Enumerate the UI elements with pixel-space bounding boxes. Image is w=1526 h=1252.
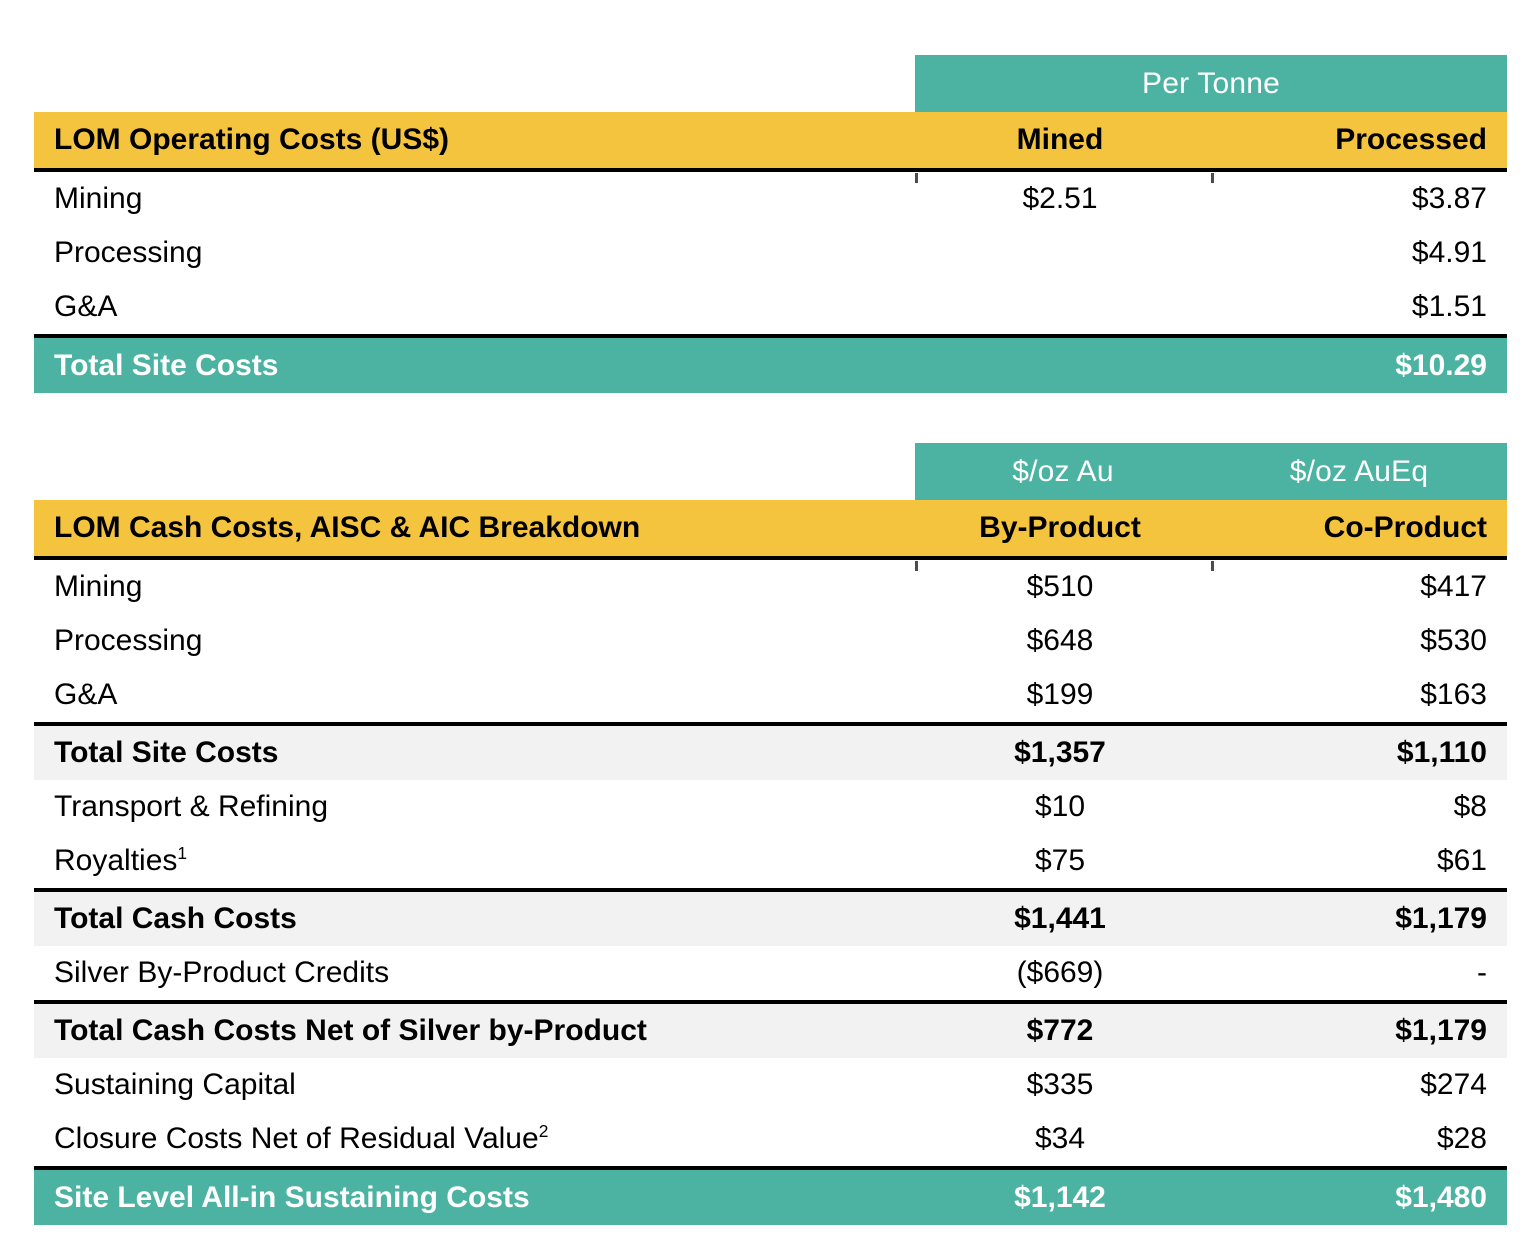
- row-value-by-product: $1,357: [915, 724, 1211, 780]
- row-value-co-product: $1,480: [1211, 1168, 1507, 1225]
- row-label-text: Site Level All-in Sustaining Costs: [54, 1181, 530, 1214]
- table-row: Silver By-Product Credits ($669) -: [34, 946, 1507, 1002]
- row-value-mined: [915, 226, 1211, 280]
- table2-header-col2: Co-Product: [1211, 500, 1507, 558]
- table-total-row: Site Level All-in Sustaining Costs $1,14…: [34, 1168, 1507, 1225]
- table-row: Transport & Refining $10 $8: [34, 780, 1507, 834]
- column-tick-mark: [915, 561, 918, 571]
- row-value-by-product: $1,441: [915, 890, 1211, 946]
- row-label: Total Cash Costs: [34, 890, 915, 946]
- table-row: Mining $2.51 $3.87: [34, 170, 1507, 226]
- column-tick-mark: [1211, 561, 1214, 571]
- per-tonne-band-label: Per Tonne: [915, 55, 1507, 112]
- row-label: G&A: [34, 280, 915, 336]
- row-value-co-product: $417: [1211, 558, 1507, 614]
- column-tick-mark: [1211, 173, 1214, 183]
- row-label-text: Total Site Costs: [54, 736, 278, 769]
- table1-header-col2: Processed: [1211, 112, 1507, 170]
- row-label-text: G&A: [54, 678, 117, 711]
- row-value-co-product: $1,179: [1211, 1002, 1507, 1058]
- row-value-co-product: $530: [1211, 614, 1507, 668]
- row-value-by-product: $510: [915, 558, 1211, 614]
- row-value-by-product: $199: [915, 668, 1211, 724]
- footnote-marker-2: 2: [539, 1121, 549, 1141]
- table-subtotal-row: Total Site Costs $1,357 $1,110: [34, 724, 1507, 780]
- table-total-row: Total Site Costs $10.29: [34, 336, 1507, 393]
- band-spacer-cell: [34, 443, 915, 500]
- row-label-text: Total Cash Costs: [54, 902, 297, 935]
- row-label: Processing: [34, 614, 915, 668]
- per-ounce-band-col1: $/oz Au: [915, 443, 1211, 500]
- row-value-co-product: -: [1211, 946, 1507, 1002]
- row-value-mined: [915, 280, 1211, 336]
- row-value-processed: $4.91: [1211, 226, 1507, 280]
- row-value-by-product: $34: [915, 1112, 1211, 1168]
- row-value-mined: [915, 336, 1211, 393]
- row-label: Site Level All-in Sustaining Costs: [34, 1168, 915, 1225]
- lom-cash-costs-aisc-aic-table: LOM Cash Costs, AISC & AIC Breakdown By-…: [34, 500, 1507, 1225]
- row-label-text: Silver By-Product Credits: [54, 956, 389, 989]
- row-label: Closure Costs Net of Residual Value2: [34, 1112, 915, 1168]
- row-label: Mining: [34, 558, 915, 614]
- row-label-text: Sustaining Capital: [54, 1068, 296, 1101]
- footnote-marker-1: 1: [177, 843, 187, 863]
- row-value-by-product: $1,142: [915, 1168, 1211, 1225]
- table-subtotal-row: Total Cash Costs $1,441 $1,179: [34, 890, 1507, 946]
- row-value-by-product: $75: [915, 834, 1211, 890]
- table1-header-row: LOM Operating Costs (US$) Mined Processe…: [34, 112, 1507, 170]
- row-value-by-product: $648: [915, 614, 1211, 668]
- table2-header-col1: By-Product: [915, 500, 1211, 558]
- per-tonne-band-table: Per Tonne: [34, 55, 1507, 112]
- row-label: Total Cash Costs Net of Silver by-Produc…: [34, 1002, 915, 1058]
- row-value-co-product: $61: [1211, 834, 1507, 890]
- row-label-text: Total Cash Costs Net of Silver by-Produc…: [54, 1014, 647, 1047]
- table1-header-label: LOM Operating Costs (US$): [34, 112, 915, 170]
- row-label-text: Closure Costs Net of Residual Value: [54, 1122, 539, 1155]
- column-tick-mark: [915, 173, 918, 183]
- lom-operating-costs-table: LOM Operating Costs (US$) Mined Processe…: [34, 112, 1507, 393]
- table-subtotal-row: Total Cash Costs Net of Silver by-Produc…: [34, 1002, 1507, 1058]
- row-value-by-product: $335: [915, 1058, 1211, 1112]
- row-label-text: Mining: [54, 570, 142, 603]
- row-label: Silver By-Product Credits: [34, 946, 915, 1002]
- row-value-processed: $3.87: [1211, 170, 1507, 226]
- row-value-processed: $10.29: [1211, 336, 1507, 393]
- row-value-co-product: $1,110: [1211, 724, 1507, 780]
- costs-summary-page: Per Tonne LOM Operating Costs (US$) Mine…: [0, 0, 1526, 1252]
- row-value-by-product: $10: [915, 780, 1211, 834]
- per-tonne-band-row: Per Tonne: [34, 55, 1507, 112]
- per-ounce-band-table: $/oz Au $/oz AuEq: [34, 443, 1507, 500]
- row-label: Total Site Costs: [34, 336, 915, 393]
- row-label-text: Royalties: [54, 844, 177, 877]
- per-ounce-band-col2: $/oz AuEq: [1211, 443, 1507, 500]
- table-row: Processing $648 $530: [34, 614, 1507, 668]
- table-row: Royalties1 $75 $61: [34, 834, 1507, 890]
- row-value-processed: $1.51: [1211, 280, 1507, 336]
- table2-header-row: LOM Cash Costs, AISC & AIC Breakdown By-…: [34, 500, 1507, 558]
- per-ounce-band-row: $/oz Au $/oz AuEq: [34, 443, 1507, 500]
- row-label-text: Transport & Refining: [54, 790, 328, 823]
- row-value-by-product: ($669): [915, 946, 1211, 1002]
- table1-header-col1: Mined: [915, 112, 1211, 170]
- row-label: Mining: [34, 170, 915, 226]
- row-label: Transport & Refining: [34, 780, 915, 834]
- row-value-co-product: $1,179: [1211, 890, 1507, 946]
- row-label: Royalties1: [34, 834, 915, 890]
- row-label: G&A: [34, 668, 915, 724]
- row-value-co-product: $163: [1211, 668, 1507, 724]
- table-row: G&A $1.51: [34, 280, 1507, 336]
- row-value-co-product: $274: [1211, 1058, 1507, 1112]
- table-row: Sustaining Capital $335 $274: [34, 1058, 1507, 1112]
- band-spacer-cell: [34, 55, 915, 112]
- row-value-by-product: $772: [915, 1002, 1211, 1058]
- row-label-text: Processing: [54, 624, 202, 657]
- table-row: Mining $510 $417: [34, 558, 1507, 614]
- row-label: Total Site Costs: [34, 724, 915, 780]
- row-value-co-product: $8: [1211, 780, 1507, 834]
- row-label: Processing: [34, 226, 915, 280]
- row-label: Sustaining Capital: [34, 1058, 915, 1112]
- table2-header-label: LOM Cash Costs, AISC & AIC Breakdown: [34, 500, 915, 558]
- table-row: Processing $4.91: [34, 226, 1507, 280]
- table-row: Closure Costs Net of Residual Value2 $34…: [34, 1112, 1507, 1168]
- row-value-co-product: $28: [1211, 1112, 1507, 1168]
- row-value-mined: $2.51: [915, 170, 1211, 226]
- table-row: G&A $199 $163: [34, 668, 1507, 724]
